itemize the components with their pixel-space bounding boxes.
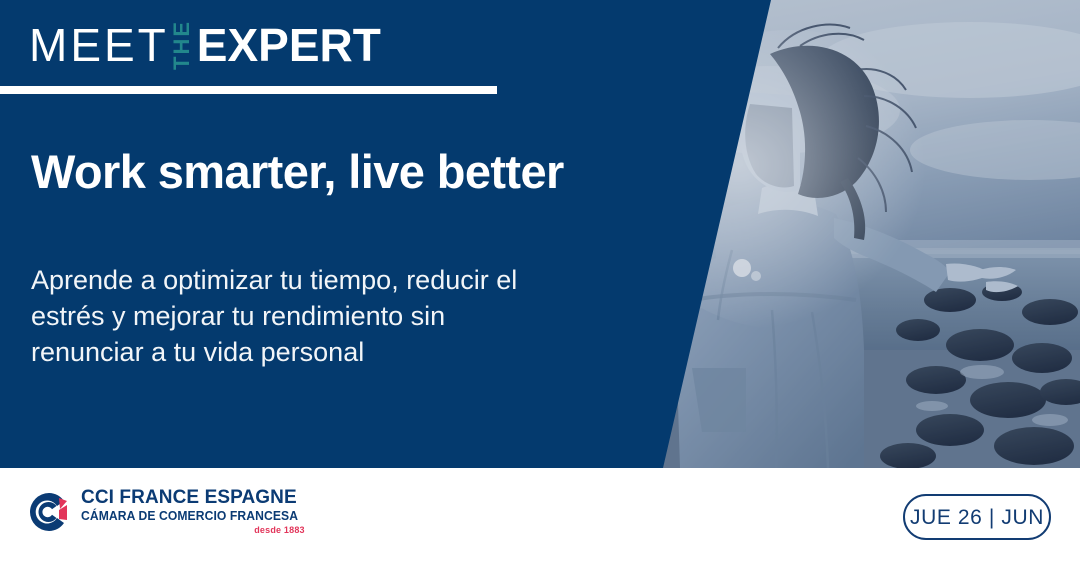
cci-logo-title: CCI FRANCE ESPAGNE bbox=[81, 488, 305, 508]
body-line-2: estrés y mejorar tu rendimiento sin bbox=[31, 298, 671, 334]
cci-logo-name-primary: CCI bbox=[81, 487, 114, 508]
kicker-the-wrapper: THE bbox=[171, 19, 193, 71]
date-badge: JUE 26 | JUN bbox=[903, 494, 1051, 540]
cci-logo-since: desde 1883 bbox=[81, 526, 305, 536]
body-line-1: Aprende a optimizar tu tiempo, reducir e… bbox=[31, 262, 671, 298]
cci-logo: CCI FRANCE ESPAGNE CÁMARA DE COMERCIO FR… bbox=[26, 488, 305, 536]
cci-monogram-icon bbox=[26, 489, 72, 535]
cci-logo-name-secondary: FRANCE ESPAGNE bbox=[119, 487, 296, 508]
headline: Work smarter, live better bbox=[31, 147, 691, 197]
promo-banner: MEET THE EXPERT Work smarter, live bette… bbox=[0, 0, 1080, 566]
date-badge-label: JUE 26 | JUN bbox=[910, 507, 1044, 528]
kicker-expert: EXPERT bbox=[197, 22, 381, 68]
header-divider-rule bbox=[0, 86, 497, 94]
kicker-the: THE bbox=[171, 20, 193, 70]
kicker-lockup: MEET THE EXPERT bbox=[29, 17, 381, 73]
cci-logo-text: CCI FRANCE ESPAGNE CÁMARA DE COMERCIO FR… bbox=[81, 488, 305, 536]
body-line-3: renunciar a tu vida personal bbox=[31, 334, 671, 370]
kicker-meet: MEET bbox=[29, 22, 169, 68]
cci-logo-subtitle: CÁMARA DE COMERCIO FRANCESA bbox=[81, 509, 298, 523]
body-copy: Aprende a optimizar tu tiempo, reducir e… bbox=[31, 262, 671, 371]
